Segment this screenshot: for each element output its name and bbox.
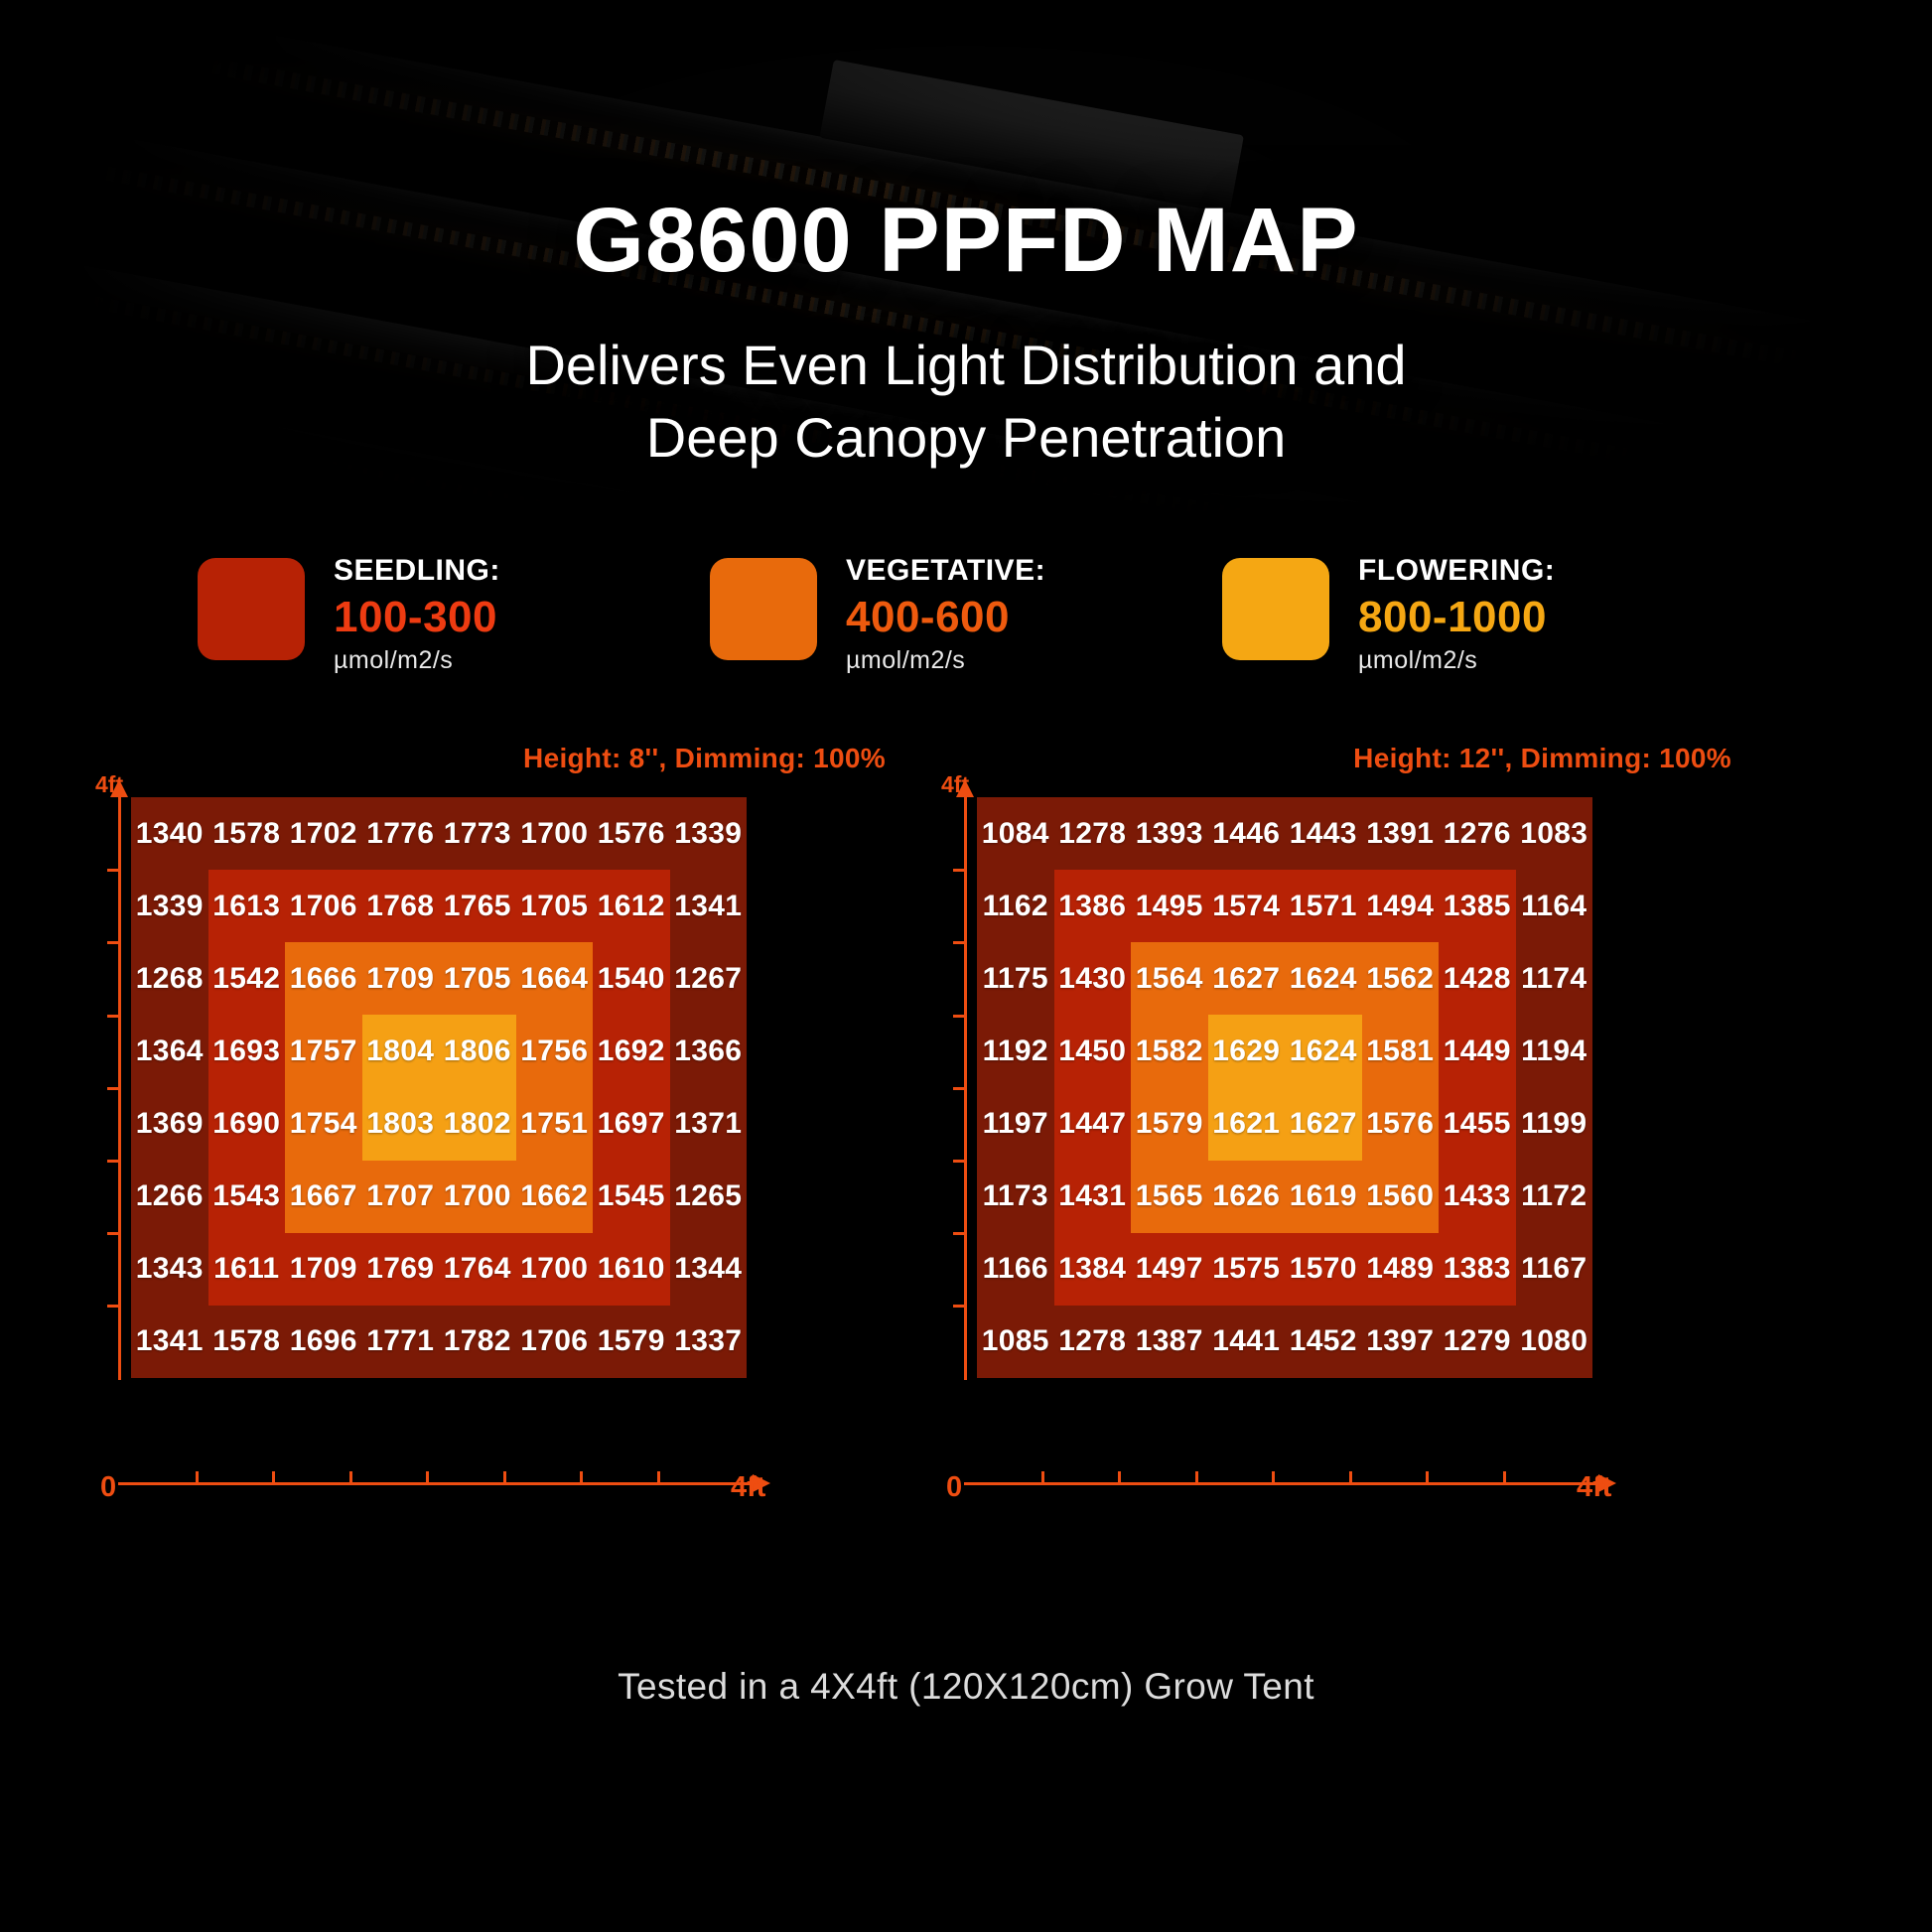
- legend-text-block: SEEDLING:100-300µmol/m2/s: [334, 554, 500, 675]
- legend-color-swatch: [710, 558, 817, 660]
- heatmap-cell: 1384: [1054, 1233, 1132, 1306]
- ppfd-map-8in: Height: 8'', Dimming: 100% 4ft 0 4ft 134…: [95, 743, 969, 1557]
- heatmap-cell: 1627: [1208, 942, 1286, 1015]
- heatmap-cell: 1621: [1208, 1088, 1286, 1161]
- legend-range-value: 400-600: [846, 593, 1045, 641]
- heatmap-cell: 1751: [516, 1088, 594, 1161]
- heatmap-cell: 1570: [1285, 1233, 1362, 1306]
- heatmap-cell: 1624: [1285, 1015, 1362, 1087]
- heatmap-cell: 1757: [285, 1015, 362, 1087]
- y-axis-tick: [107, 941, 118, 944]
- heatmap-cell: 1611: [208, 1233, 286, 1306]
- y-axis-tick: [107, 1232, 118, 1235]
- heatmap-cell: 1582: [1131, 1015, 1208, 1087]
- heatmap-cell: 1443: [1285, 797, 1362, 870]
- ppfd-legend: SEEDLING:100-300µmol/m2/sVEGETATIVE:400-…: [0, 554, 1932, 683]
- heatmap-cell: 1769: [362, 1233, 440, 1306]
- heatmap-cell: 1175: [977, 942, 1054, 1015]
- heatmap-cell: 1337: [670, 1306, 748, 1378]
- origin-label-right: 0: [946, 1471, 962, 1504]
- heatmap-cell: 1579: [593, 1306, 670, 1378]
- heatmap-cell: 1383: [1439, 1233, 1516, 1306]
- x-axis-tick: [580, 1471, 583, 1482]
- x-axis-tick: [272, 1471, 275, 1482]
- heatmap-cell: 1268: [131, 942, 208, 1015]
- heatmap-cell: 1174: [1516, 942, 1593, 1015]
- heatmap-cell: 1265: [670, 1161, 748, 1233]
- heatmap-cell: 1709: [362, 942, 440, 1015]
- y-axis-tick: [953, 1087, 964, 1090]
- heatmap-cell: 1690: [208, 1088, 286, 1161]
- x-axis-tick: [657, 1471, 660, 1482]
- ppfd-maps: Height: 8'', Dimming: 100% 4ft 0 4ft 134…: [0, 743, 1932, 1557]
- heatmap-cell: 1341: [131, 1306, 208, 1378]
- heatmap-cell: 1576: [593, 797, 670, 870]
- x-axis-tick: [1118, 1471, 1121, 1482]
- heatmap-cell: 1806: [439, 1015, 516, 1087]
- legend-unit-label: µmol/m2/s: [1358, 646, 1555, 675]
- y-axis-arrow-icon: [110, 779, 128, 797]
- ppfd-map-12in: Height: 12'', Dimming: 100% 4ft 0 4ft 10…: [941, 743, 1815, 1557]
- heatmap-cell: 1364: [131, 1015, 208, 1087]
- heatmap-cell: 1397: [1362, 1306, 1440, 1378]
- legend-color-swatch: [198, 558, 305, 660]
- heatmap-cell: 1083: [1516, 797, 1593, 870]
- heatmap-cell: 1199: [1516, 1088, 1593, 1161]
- heatmap-cell: 1449: [1439, 1015, 1516, 1087]
- origin-label-left: 0: [100, 1471, 116, 1504]
- heatmap-cell: 1172: [1516, 1161, 1593, 1233]
- x-axis-label-left: 4ft: [731, 1471, 765, 1504]
- heatmap-cell: 1447: [1054, 1088, 1132, 1161]
- legend-stage-label: FLOWERING:: [1358, 556, 1555, 586]
- x-axis-tick: [1503, 1471, 1506, 1482]
- y-axis-tick: [953, 1232, 964, 1235]
- map-caption-12in: Height: 12'', Dimming: 100%: [1353, 743, 1731, 774]
- heatmap-cell: 1667: [285, 1161, 362, 1233]
- heatmap-cell: 1385: [1439, 870, 1516, 942]
- heatmap-cell: 1197: [977, 1088, 1054, 1161]
- heatmap-cell: 1565: [1131, 1161, 1208, 1233]
- x-axis-tick: [426, 1471, 429, 1482]
- heatmap-cell: 1371: [670, 1088, 748, 1161]
- legend-range-value: 800-1000: [1358, 593, 1555, 641]
- heatmap-cell: 1366: [670, 1015, 748, 1087]
- heatmap-cell: 1278: [1054, 1306, 1132, 1378]
- heatmap-cell: 1543: [208, 1161, 286, 1233]
- heatmap-cell: 1700: [516, 1233, 594, 1306]
- heatmap-cell: 1080: [1516, 1306, 1593, 1378]
- footer-note: Tested in a 4X4ft (120X120cm) Grow Tent: [0, 1666, 1932, 1708]
- y-axis-tick: [107, 1087, 118, 1090]
- heatmap-grid-8in: 1340157817021776177317001576133913391613…: [131, 797, 747, 1378]
- heatmap-cell: 1430: [1054, 942, 1132, 1015]
- heatmap-cell: 1706: [516, 1306, 594, 1378]
- heatmap-cell: 1452: [1285, 1306, 1362, 1378]
- legend-stage-label: VEGETATIVE:: [846, 556, 1045, 586]
- heatmap-cell: 1446: [1208, 797, 1286, 870]
- heatmap-cell: 1545: [593, 1161, 670, 1233]
- y-axis-left: [118, 796, 121, 1380]
- heatmap-cell: 1619: [1285, 1161, 1362, 1233]
- heatmap-cell: 1706: [285, 870, 362, 942]
- heatmap-cell: 1576: [1362, 1088, 1440, 1161]
- heatmap-cell: 1666: [285, 942, 362, 1015]
- heatmap-cell: 1662: [516, 1161, 594, 1233]
- heatmap-cell: 1194: [1516, 1015, 1593, 1087]
- heatmap-cell: 1562: [1362, 942, 1440, 1015]
- heatmap-cell: 1164: [1516, 870, 1593, 942]
- heatmap-cell: 1693: [208, 1015, 286, 1087]
- heatmap-cell: 1084: [977, 797, 1054, 870]
- y-axis-tick: [107, 1015, 118, 1018]
- heatmap-cell: 1162: [977, 870, 1054, 942]
- heatmap-cell: 1707: [362, 1161, 440, 1233]
- heatmap-cell: 1497: [1131, 1233, 1208, 1306]
- heatmap-cell: 1173: [977, 1161, 1054, 1233]
- legend-stage-label: SEEDLING:: [334, 556, 500, 586]
- heatmap-cell: 1802: [439, 1088, 516, 1161]
- heatmap-cell: 1341: [670, 870, 748, 942]
- heatmap-cell: 1495: [1131, 870, 1208, 942]
- heatmap-cell: 1664: [516, 942, 594, 1015]
- legend-range-value: 100-300: [334, 593, 500, 641]
- heatmap-cell: 1700: [516, 797, 594, 870]
- heatmap-cell: 1756: [516, 1015, 594, 1087]
- heatmap-cell: 1776: [362, 797, 440, 870]
- heatmap-cell: 1578: [208, 797, 286, 870]
- heatmap-cell: 1697: [593, 1088, 670, 1161]
- heatmap-cell: 1540: [593, 942, 670, 1015]
- heatmap-cell: 1581: [1362, 1015, 1440, 1087]
- legend-item-2: FLOWERING:800-1000µmol/m2/s: [1222, 554, 1734, 675]
- heatmap-cell: 1344: [670, 1233, 748, 1306]
- heatmap-cell: 1709: [285, 1233, 362, 1306]
- heatmap-cell: 1369: [131, 1088, 208, 1161]
- heatmap-cell: 1387: [1131, 1306, 1208, 1378]
- heatmap-cell: 1692: [593, 1015, 670, 1087]
- heatmap-cell: 1431: [1054, 1161, 1132, 1233]
- y-axis-tick: [107, 869, 118, 872]
- heatmap-cell: 1267: [670, 942, 748, 1015]
- heatmap-cell: 1085: [977, 1306, 1054, 1378]
- heatmap-cell: 1626: [1208, 1161, 1286, 1233]
- heatmap-cell: 1700: [439, 1161, 516, 1233]
- heatmap-cell: 1627: [1285, 1088, 1362, 1161]
- heatmap-cell: 1702: [285, 797, 362, 870]
- heatmap-grid-12in: 1084127813931446144313911276108311621386…: [977, 797, 1592, 1378]
- heatmap-cell: 1489: [1362, 1233, 1440, 1306]
- x-axis-left: [118, 1482, 754, 1485]
- x-axis-tick: [1041, 1471, 1044, 1482]
- heatmap-cell: 1613: [208, 870, 286, 942]
- heatmap-cell: 1705: [439, 942, 516, 1015]
- legend-item-0: SEEDLING:100-300µmol/m2/s: [198, 554, 710, 675]
- legend-color-swatch: [1222, 558, 1329, 660]
- heatmap-cell: 1167: [1516, 1233, 1593, 1306]
- legend-unit-label: µmol/m2/s: [334, 646, 500, 675]
- heatmap-cell: 1386: [1054, 870, 1132, 942]
- y-axis-tick: [953, 1160, 964, 1163]
- heatmap-cell: 1450: [1054, 1015, 1132, 1087]
- heatmap-cell: 1339: [131, 870, 208, 942]
- heatmap-cell: 1279: [1439, 1306, 1516, 1378]
- x-axis-right: [964, 1482, 1599, 1485]
- heatmap-cell: 1571: [1285, 870, 1362, 942]
- page-subtitle-line2: Deep Canopy Penetration: [0, 402, 1932, 475]
- heatmap-cell: 1393: [1131, 797, 1208, 870]
- heatmap-cell: 1610: [593, 1233, 670, 1306]
- y-axis-arrow-icon: [956, 779, 974, 797]
- heatmap-cell: 1564: [1131, 942, 1208, 1015]
- heatmap-cell: 1340: [131, 797, 208, 870]
- y-axis-tick: [107, 1160, 118, 1163]
- heatmap-cell: 1578: [208, 1306, 286, 1378]
- y-axis-tick: [953, 869, 964, 872]
- heatmap-cell: 1575: [1208, 1233, 1286, 1306]
- heatmap-cell: 1765: [439, 870, 516, 942]
- heatmap-cell: 1624: [1285, 942, 1362, 1015]
- y-axis-tick: [953, 1015, 964, 1018]
- heatmap-cell: 1343: [131, 1233, 208, 1306]
- y-axis-tick: [107, 1305, 118, 1308]
- heatmap-cell: 1428: [1439, 942, 1516, 1015]
- heatmap-cell: 1804: [362, 1015, 440, 1087]
- heatmap-cell: 1276: [1439, 797, 1516, 870]
- legend-item-1: VEGETATIVE:400-600µmol/m2/s: [710, 554, 1222, 675]
- legend-text-block: VEGETATIVE:400-600µmol/m2/s: [846, 554, 1045, 675]
- x-axis-tick: [196, 1471, 199, 1482]
- legend-unit-label: µmol/m2/s: [846, 646, 1045, 675]
- title-block: G8600 PPFD MAP Delivers Even Light Distr…: [0, 0, 1932, 475]
- heatmap-cell: 1754: [285, 1088, 362, 1161]
- heatmap-cell: 1579: [1131, 1088, 1208, 1161]
- page-subtitle-line1: Delivers Even Light Distribution and: [0, 330, 1932, 402]
- heatmap-cell: 1574: [1208, 870, 1286, 942]
- heatmap-cell: 1771: [362, 1306, 440, 1378]
- heatmap-cell: 1339: [670, 797, 748, 870]
- legend-text-block: FLOWERING:800-1000µmol/m2/s: [1358, 554, 1555, 675]
- y-axis-tick: [953, 1305, 964, 1308]
- heatmap-cell: 1192: [977, 1015, 1054, 1087]
- x-axis-tick: [349, 1471, 352, 1482]
- x-axis-tick: [1272, 1471, 1275, 1482]
- heatmap-cell: 1560: [1362, 1161, 1440, 1233]
- heatmap-cell: 1542: [208, 942, 286, 1015]
- heatmap-cell: 1773: [439, 797, 516, 870]
- page-subtitle: Delivers Even Light Distribution and Dee…: [0, 330, 1932, 475]
- heatmap-cell: 1441: [1208, 1306, 1286, 1378]
- heatmap-cell: 1768: [362, 870, 440, 942]
- x-axis-label-right: 4ft: [1577, 1471, 1611, 1504]
- heatmap-cell: 1494: [1362, 870, 1440, 942]
- x-axis-tick: [1426, 1471, 1429, 1482]
- heatmap-cell: 1696: [285, 1306, 362, 1378]
- heatmap-cell: 1166: [977, 1233, 1054, 1306]
- heatmap-cell: 1266: [131, 1161, 208, 1233]
- x-axis-tick: [1349, 1471, 1352, 1482]
- map-caption-8in: Height: 8'', Dimming: 100%: [523, 743, 886, 774]
- heatmap-cell: 1612: [593, 870, 670, 942]
- heatmap-cell: 1629: [1208, 1015, 1286, 1087]
- heatmap-cell: 1782: [439, 1306, 516, 1378]
- heatmap-cell: 1455: [1439, 1088, 1516, 1161]
- heatmap-cell: 1764: [439, 1233, 516, 1306]
- heatmap-cell: 1278: [1054, 797, 1132, 870]
- x-axis-tick: [1195, 1471, 1198, 1482]
- heatmap-cell: 1391: [1362, 797, 1440, 870]
- x-axis-tick: [503, 1471, 506, 1482]
- heatmap-cell: 1705: [516, 870, 594, 942]
- heatmap-cell: 1803: [362, 1088, 440, 1161]
- page-title: G8600 PPFD MAP: [0, 195, 1932, 286]
- y-axis-right: [964, 796, 967, 1380]
- y-axis-tick: [953, 941, 964, 944]
- heatmap-cell: 1433: [1439, 1161, 1516, 1233]
